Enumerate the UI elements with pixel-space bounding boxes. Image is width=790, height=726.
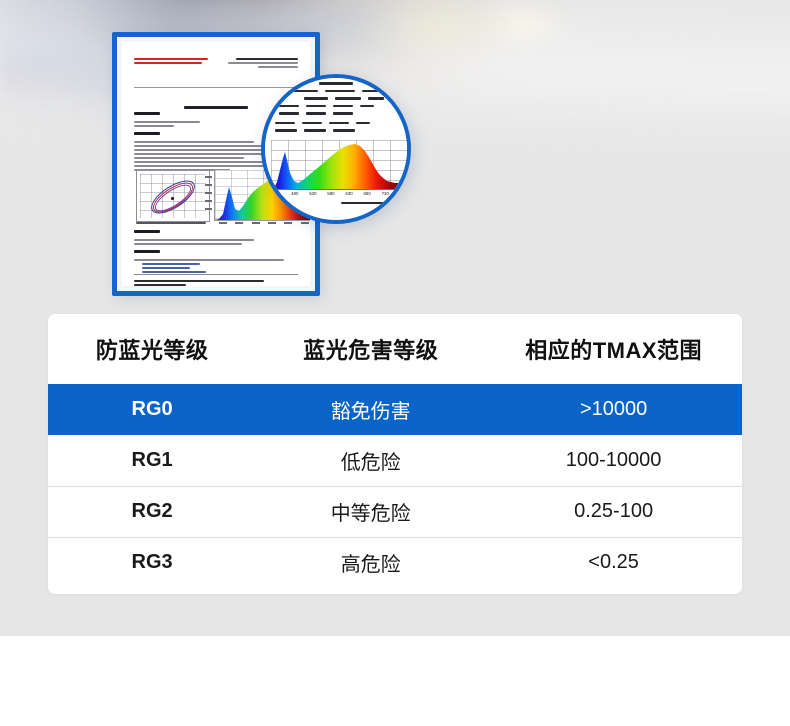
magnified-spectrum-curve [271,140,409,190]
chromaticity-ellipse-chart [136,170,210,222]
blue-light-hazard-table-card: 防蓝光等级 蓝光危害等级 相应的TMAX范围 RG0 豁免伤害 >10000 R… [48,314,742,594]
x-tick-label: 630 [345,191,352,196]
cell-tmax: 0.25-100 [485,486,742,537]
table-row: RG2 中等危险 0.25-100 [48,486,742,537]
magnified-spectrum-x-axis [271,189,409,190]
chromaticity-caption [136,222,208,226]
table-header: 防蓝光等级 蓝光危害等级 相应的TMAX范围 [48,314,742,384]
report-header-lab-info [226,58,298,70]
report-spectrum-x-ticks [215,222,310,227]
chromaticity-center-point [171,197,174,200]
magnified-spectrum-plot [271,140,409,190]
magnifier-content: 430 480 530 580 630 680 730 780 [265,78,407,220]
x-tick-label: 580 [327,191,334,196]
x-tick-label: 680 [363,191,370,196]
cell-tmax: >10000 [485,384,742,435]
cell-hazard: 中等危险 [256,486,485,537]
blue-light-hazard-table: 防蓝光等级 蓝光危害等级 相应的TMAX范围 RG0 豁免伤害 >10000 R… [48,314,742,588]
column-header-tmax: 相应的TMAX范围 [485,314,742,384]
report-footer-rows [134,280,298,286]
magnified-spectrum-x-tick-labels: 430 480 530 580 630 680 730 780 [271,191,409,196]
column-header-hazard: 蓝光危害等级 [256,314,485,384]
x-tick-label: 430 [273,191,280,196]
report-section-electrical-label [134,230,298,235]
table-header-row: 防蓝光等级 蓝光危害等级 相应的TMAX范围 [48,314,742,384]
cell-tmax: 100-10000 [485,435,742,486]
report-footer-rule [134,274,298,275]
report-header [134,58,298,80]
cell-hazard: 高危险 [256,537,485,588]
magnified-spectrum-footnote [341,202,393,207]
column-header-grade: 防蓝光等级 [48,314,256,384]
table-row: RG3 高危险 <0.25 [48,537,742,588]
x-tick-label: 480 [291,191,298,196]
cell-hazard: 豁免伤害 [256,384,485,435]
x-tick-label: 780 [400,191,407,196]
page-root: 430 480 530 580 630 680 730 780 [0,0,790,726]
table-row: RG0 豁免伤害 >10000 [48,384,742,435]
hero-band: 430 480 530 580 630 680 730 780 [0,0,790,636]
magnified-parameter-rows [265,82,407,137]
cell-hazard: 低危险 [256,435,485,486]
cell-grade: RG2 [48,486,256,537]
report-section-remarks-rows [134,259,298,275]
report-spectrum-y-ticks [205,170,214,220]
x-tick-label: 730 [382,191,389,196]
magnified-spectrum-chart: 430 480 530 580 630 680 730 780 [271,140,409,198]
cell-grade: RG3 [48,537,256,588]
magnifier-lens: 430 480 530 580 630 680 730 780 [261,74,411,224]
cell-tmax: <0.25 [485,537,742,588]
cell-grade: RG0 [48,384,256,435]
report-header-software-note [134,58,210,66]
x-tick-label: 530 [309,191,316,196]
report-section-electrical-rows [134,239,298,247]
report-section-remarks-label [134,250,298,255]
table-row: RG1 低危险 100-10000 [48,435,742,486]
cell-grade: RG1 [48,435,256,486]
table-body: RG0 豁免伤害 >10000 RG1 低危险 100-10000 RG2 中等… [48,384,742,588]
